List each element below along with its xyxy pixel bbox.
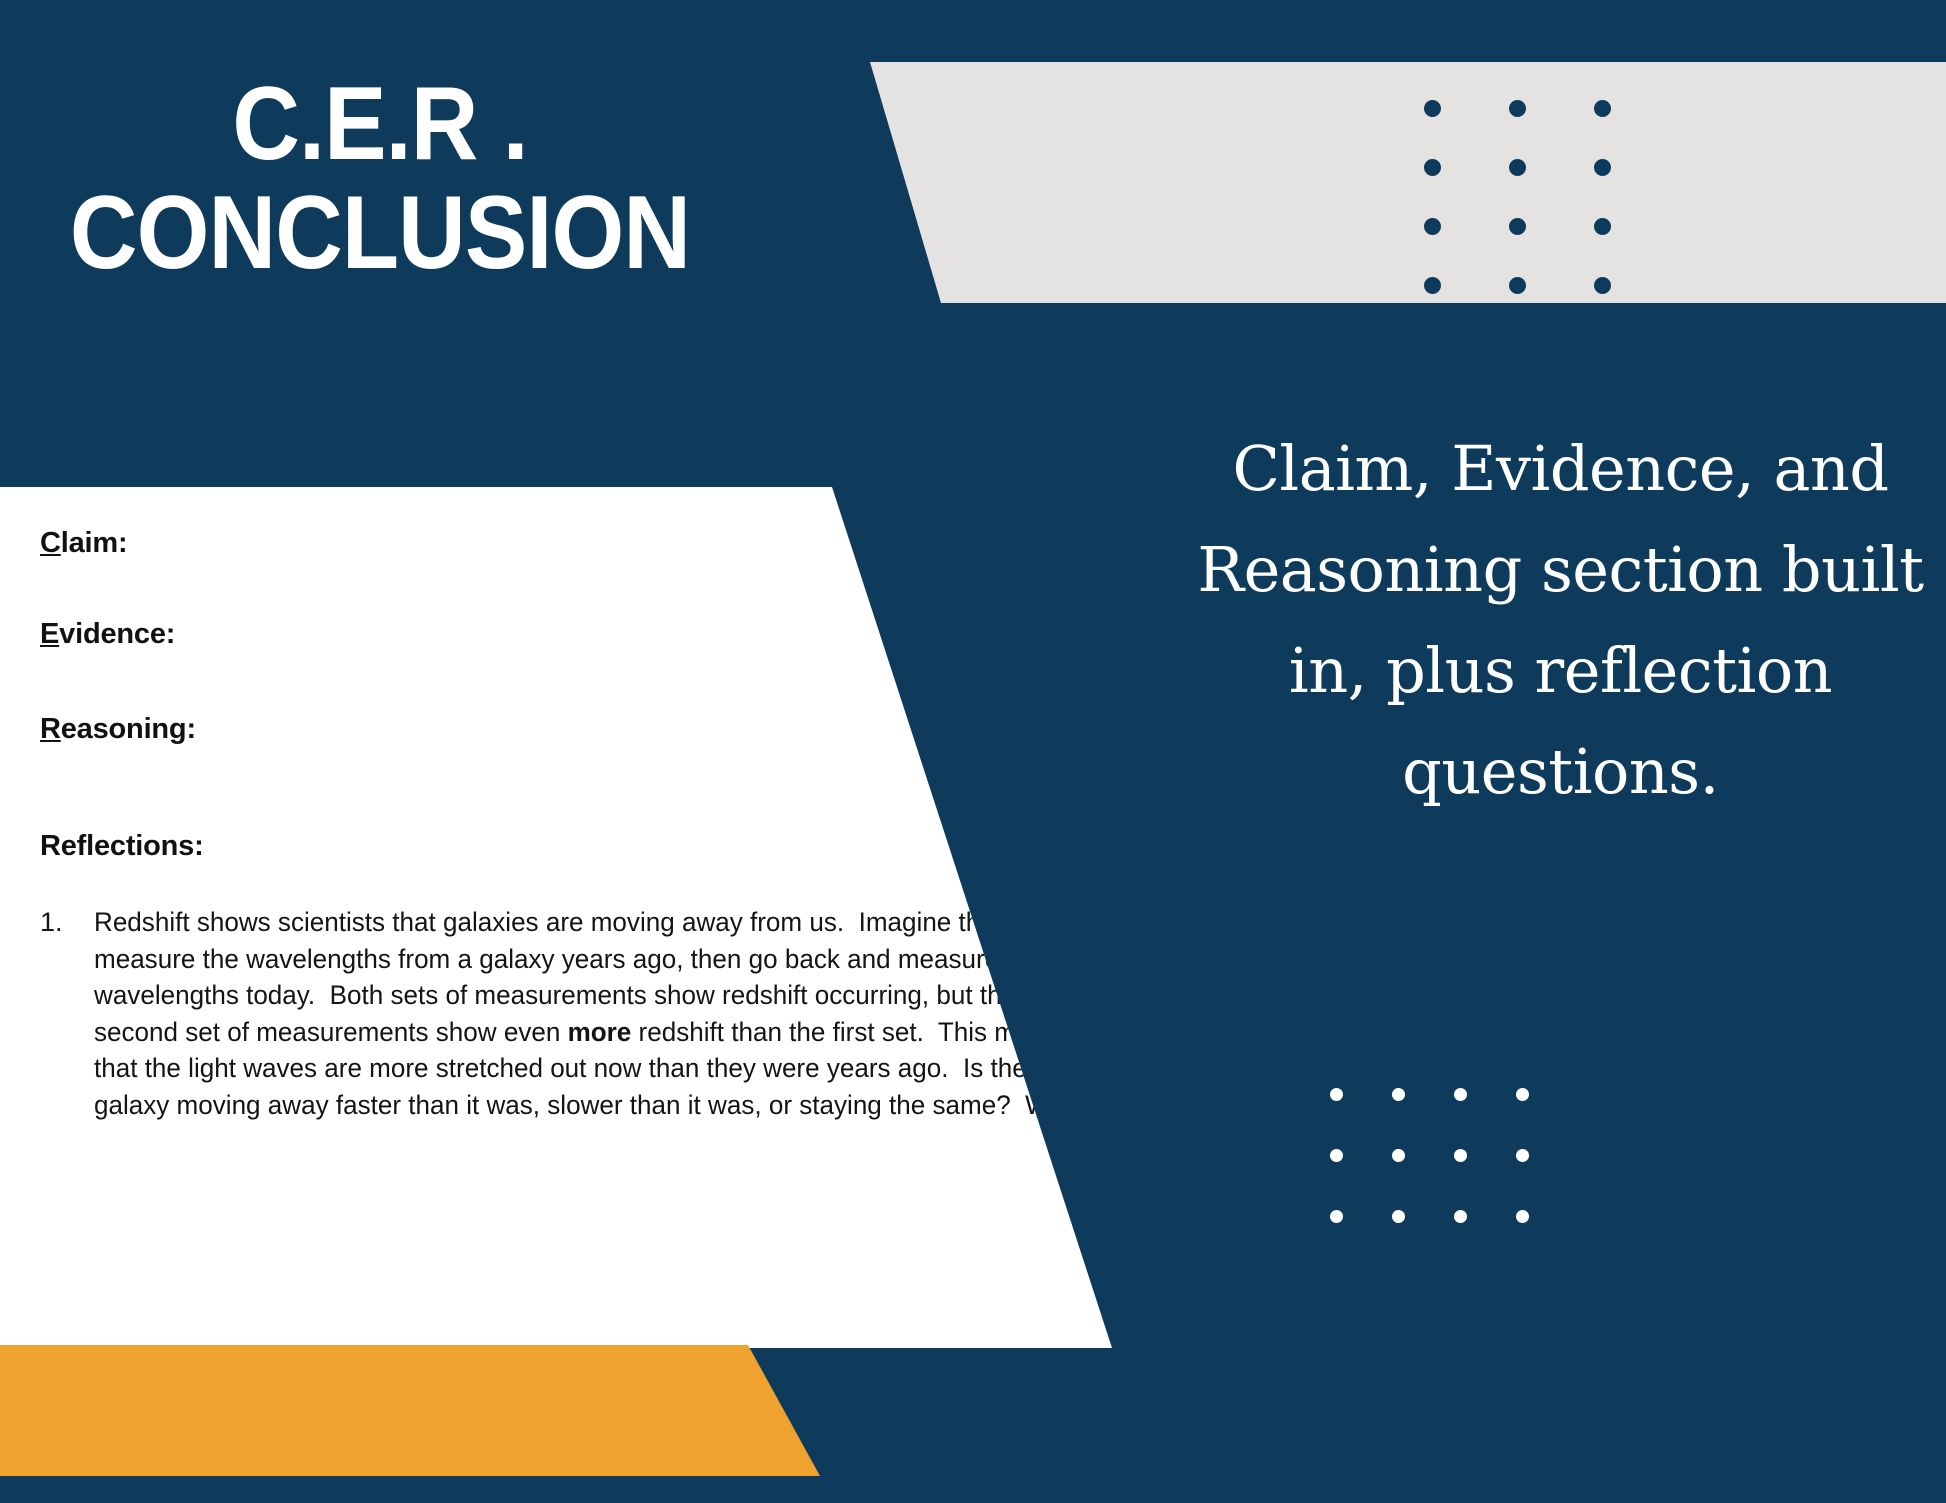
- reflection-number: 1.: [40, 904, 94, 1123]
- reasoning-first-letter: R: [40, 713, 61, 745]
- dot-icon: [1516, 1210, 1529, 1223]
- dot-icon: [1330, 1210, 1343, 1223]
- dot-icon: [1509, 100, 1526, 117]
- dot-icon: [1454, 1149, 1467, 1162]
- reasoning-rest: easoning:: [61, 713, 196, 745]
- dot-icon: [1392, 1210, 1405, 1223]
- dot-icon: [1454, 1088, 1467, 1101]
- dot-icon: [1509, 218, 1526, 235]
- dot-grid-top: [1424, 100, 1679, 336]
- dot-icon: [1392, 1149, 1405, 1162]
- worksheet-heading-reasoning: Reasoning:: [40, 713, 196, 746]
- dot-icon: [1392, 1088, 1405, 1101]
- title-line-2: CONCLUSION: [38, 179, 722, 288]
- dot-icon: [1594, 100, 1611, 117]
- dot-icon: [1424, 218, 1441, 235]
- dot-icon: [1424, 159, 1441, 176]
- dot-icon: [1516, 1088, 1529, 1101]
- slide-title: C.E.R . CONCLUSION: [38, 70, 722, 288]
- dot-icon: [1594, 277, 1611, 294]
- evidence-rest: vidence:: [59, 618, 175, 650]
- dot-icon: [1516, 1149, 1529, 1162]
- dot-grid-bottom: [1330, 1088, 1578, 1271]
- worksheet-heading-reflections: Reflections:: [40, 830, 204, 863]
- dot-icon: [1330, 1088, 1343, 1101]
- worksheet-heading-evidence: Evidence:: [40, 618, 175, 651]
- reflection-question-item: 1. Redshift shows scientists that galaxi…: [40, 904, 1140, 1123]
- dot-icon: [1594, 218, 1611, 235]
- dot-icon: [1454, 1210, 1467, 1223]
- dot-icon: [1509, 277, 1526, 294]
- dot-icon: [1424, 277, 1441, 294]
- title-line-1: C.E.R .: [38, 70, 722, 179]
- dot-icon: [1509, 159, 1526, 176]
- reflection-emphasis-word: more: [568, 1017, 632, 1047]
- dot-icon: [1330, 1149, 1343, 1162]
- worksheet-preview: Claim: Evidence: Reasoning: Reflections:…: [0, 487, 1180, 1348]
- reflection-text: Redshift shows scientists that galaxies …: [94, 904, 1103, 1123]
- dot-icon: [1594, 159, 1611, 176]
- claim-first-letter: C: [40, 527, 61, 559]
- footer-orange-band: [0, 1345, 820, 1476]
- worksheet-heading-claim: Claim:: [40, 527, 127, 560]
- slide-caption: Claim, Evidence, and Reasoning section b…: [1175, 418, 1946, 822]
- evidence-first-letter: E: [40, 618, 59, 650]
- dot-icon: [1424, 100, 1441, 117]
- claim-rest: laim:: [61, 527, 128, 559]
